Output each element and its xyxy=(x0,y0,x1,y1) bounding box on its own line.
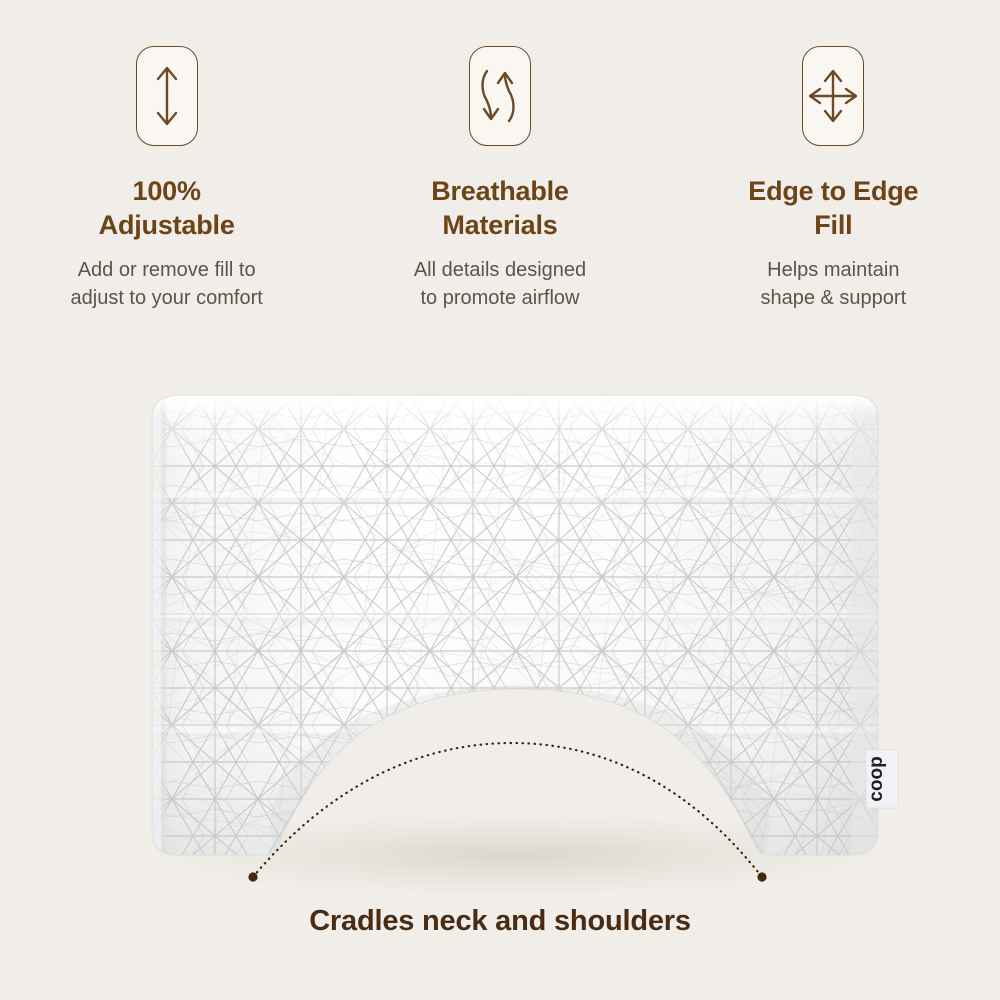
vertical-double-arrow-icon xyxy=(136,46,198,146)
feature-adjustable: 100% Adjustable Add or remove fill to ad… xyxy=(0,0,333,340)
feature-highlights-row: 100% Adjustable Add or remove fill to ad… xyxy=(0,0,1000,340)
feature-description: Add or remove fill to adjust to your com… xyxy=(71,256,263,313)
feature-description: Helps maintain shape & support xyxy=(760,256,906,313)
pillow-illustration: coop xyxy=(0,355,1000,900)
feature-description: All details designed to promote airflow xyxy=(414,256,586,313)
feature-title: Edge to Edge Fill xyxy=(748,174,918,242)
annotation-dot-left xyxy=(248,872,257,881)
airflow-circulation-arrows-icon xyxy=(469,46,531,146)
feature-title: 100% Adjustable xyxy=(99,174,235,242)
four-way-expand-arrow-icon xyxy=(802,46,864,146)
feature-breathable: Breathable Materials All details designe… xyxy=(333,0,666,340)
product-caption: Cradles neck and shoulders xyxy=(0,905,1000,938)
brand-tag: coop xyxy=(866,750,898,808)
annotation-dot-right xyxy=(757,872,766,881)
product-image-area: coop xyxy=(0,355,1000,900)
feature-title: Breathable Materials xyxy=(431,174,569,242)
feature-edge-to-edge: Edge to Edge Fill Helps maintain shape &… xyxy=(667,0,1000,340)
svg-text:coop: coop xyxy=(866,756,887,801)
